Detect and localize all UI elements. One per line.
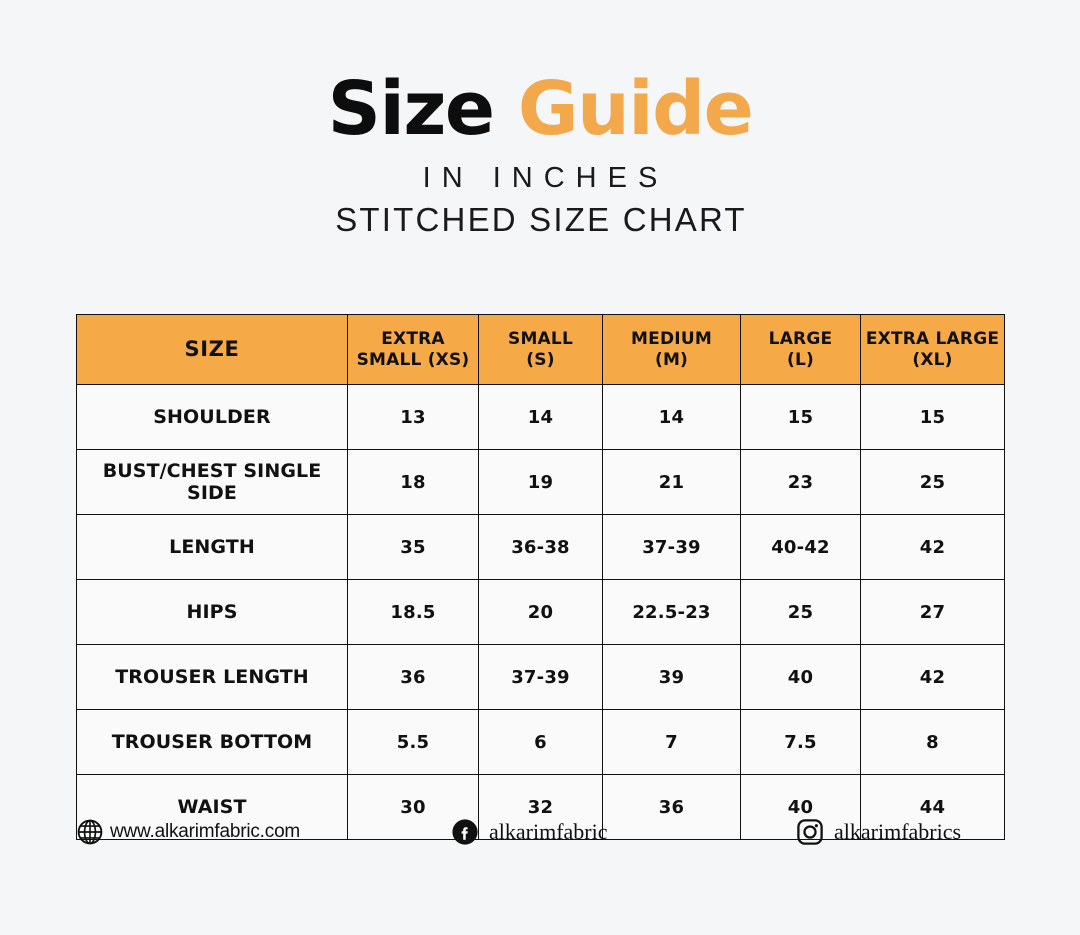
page-header: Size Guide IN INCHES STITCHED SIZE CHART: [0, 0, 1080, 239]
column-header-extra-small: EXTRASMALL (XS): [348, 315, 479, 385]
cell-shoulder-m: 14: [603, 385, 741, 450]
column-header-large: LARGE(L): [741, 315, 861, 385]
cell-bust-s: 19: [479, 450, 603, 515]
column-header-medium-line2: (M): [655, 350, 688, 370]
footer-website-label: www.alkarimfabric.com: [110, 821, 300, 843]
cell-hips-xs: 18.5: [348, 580, 479, 645]
size-guide-page: Size Guide IN INCHES STITCHED SIZE CHART…: [0, 0, 1080, 935]
cell-trouser-bottom-m: 7: [603, 710, 741, 775]
cell-length-xs: 35: [348, 515, 479, 580]
column-header-small-line2: (S): [526, 350, 554, 370]
column-header-extra-small-line2: SMALL (XS): [357, 350, 470, 370]
row-label-trouser-length: TROUSER LENGTH: [77, 645, 348, 710]
cell-length-l: 40-42: [741, 515, 861, 580]
column-header-small: SMALL(S): [479, 315, 603, 385]
title-part-size: Size: [328, 66, 494, 152]
cell-trouser-bottom-s: 6: [479, 710, 603, 775]
table-row: BUST/CHEST SINGLE SIDE 18 19 21 23 25: [77, 450, 1005, 515]
footer-instagram[interactable]: alkarimfabrics: [796, 818, 1004, 846]
cell-shoulder-s: 14: [479, 385, 603, 450]
cell-bust-l: 23: [741, 450, 861, 515]
cell-shoulder-xl: 15: [861, 385, 1005, 450]
column-header-small-line1: SMALL: [508, 329, 573, 349]
table-row: LENGTH 35 36-38 37-39 40-42 42: [77, 515, 1005, 580]
column-header-extra-small-line1: EXTRA: [381, 329, 445, 349]
table-row: TROUSER LENGTH 36 37-39 39 40 42: [77, 645, 1005, 710]
cell-hips-xl: 27: [861, 580, 1005, 645]
cell-trouser-length-xs: 36: [348, 645, 479, 710]
row-label-hips: HIPS: [77, 580, 348, 645]
size-chart-table-wrapper: SIZE EXTRASMALL (XS) SMALL(S) MEDIUM(M) …: [76, 314, 1004, 840]
row-label-shoulder: SHOULDER: [77, 385, 348, 450]
row-label-length: LENGTH: [77, 515, 348, 580]
cell-bust-m: 21: [603, 450, 741, 515]
cell-trouser-length-m: 39: [603, 645, 741, 710]
footer-facebook[interactable]: alkarimfabric: [451, 818, 796, 846]
footer-instagram-label: alkarimfabrics: [834, 819, 961, 845]
cell-trouser-bottom-xs: 5.5: [348, 710, 479, 775]
subtitle-in-inches: IN INCHES: [0, 162, 1080, 195]
column-header-extra-large: EXTRA LARGE(XL): [861, 315, 1005, 385]
page-title: Size Guide: [0, 72, 1080, 146]
title-spacer: [494, 66, 518, 152]
table-row: SHOULDER 13 14 14 15 15: [77, 385, 1005, 450]
column-header-extra-large-line1: EXTRA LARGE: [866, 329, 999, 349]
footer-website[interactable]: www.alkarimfabric.com: [76, 818, 451, 846]
cell-bust-xl: 25: [861, 450, 1005, 515]
column-header-large-line1: LARGE: [769, 329, 833, 349]
facebook-icon: [451, 818, 479, 846]
cell-hips-m: 22.5-23: [603, 580, 741, 645]
column-header-size: SIZE: [77, 315, 348, 385]
column-header-extra-large-line2: (XL): [912, 350, 952, 370]
column-header-large-line2: (L): [787, 350, 814, 370]
table-row: TROUSER BOTTOM 5.5 6 7 7.5 8: [77, 710, 1005, 775]
cell-trouser-bottom-l: 7.5: [741, 710, 861, 775]
cell-shoulder-xs: 13: [348, 385, 479, 450]
cell-hips-s: 20: [479, 580, 603, 645]
footer-facebook-label: alkarimfabric: [489, 819, 608, 845]
subtitle-stitched-size-chart: STITCHED SIZE CHART: [0, 201, 1080, 239]
size-chart-table: SIZE EXTRASMALL (XS) SMALL(S) MEDIUM(M) …: [76, 314, 1005, 840]
cell-bust-xs: 18: [348, 450, 479, 515]
cell-length-s: 36-38: [479, 515, 603, 580]
table-header-row: SIZE EXTRASMALL (XS) SMALL(S) MEDIUM(M) …: [77, 315, 1005, 385]
title-part-guide: Guide: [518, 66, 752, 152]
cell-trouser-length-l: 40: [741, 645, 861, 710]
table-body: SHOULDER 13 14 14 15 15 BUST/CHEST SINGL…: [77, 385, 1005, 840]
cell-shoulder-l: 15: [741, 385, 861, 450]
cell-hips-l: 25: [741, 580, 861, 645]
cell-trouser-length-xl: 42: [861, 645, 1005, 710]
cell-length-m: 37-39: [603, 515, 741, 580]
column-header-medium: MEDIUM(M): [603, 315, 741, 385]
column-header-size-line1: SIZE: [185, 337, 240, 361]
table-row: HIPS 18.5 20 22.5-23 25 27: [77, 580, 1005, 645]
row-label-bust-chest-single-side: BUST/CHEST SINGLE SIDE: [77, 450, 348, 515]
column-header-medium-line1: MEDIUM: [631, 329, 712, 349]
cell-length-xl: 42: [861, 515, 1005, 580]
cell-trouser-bottom-xl: 8: [861, 710, 1005, 775]
row-label-trouser-bottom: TROUSER BOTTOM: [77, 710, 348, 775]
instagram-icon: [796, 818, 824, 846]
globe-icon: [76, 818, 104, 846]
footer: www.alkarimfabric.com alkarimfabric alka…: [76, 818, 1004, 846]
cell-trouser-length-s: 37-39: [479, 645, 603, 710]
table-header: SIZE EXTRASMALL (XS) SMALL(S) MEDIUM(M) …: [77, 315, 1005, 385]
